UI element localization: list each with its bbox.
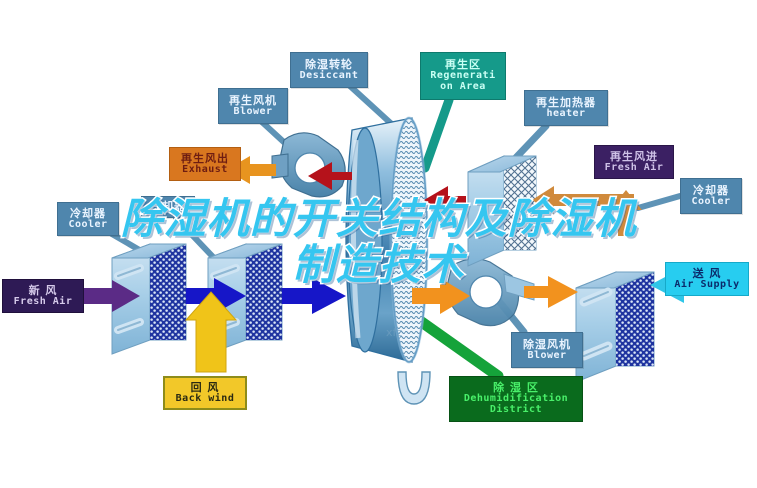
callout-air-supply-en: Air Supply xyxy=(666,280,748,291)
callout-regen-fresh-air-in: 再生风进Fresh Air xyxy=(594,145,674,179)
callout-back-wind-cn: 回 风 xyxy=(165,382,245,394)
callout-cooler-right: 冷却器Cooler xyxy=(680,178,742,214)
callout-desiccant-wheel: 除湿转轮Desiccant xyxy=(290,52,368,88)
callout-exhaust-cn: 再生风出 xyxy=(170,153,240,165)
callout-exhaust-en: Exhaust xyxy=(170,165,240,176)
callout-dehumid-blower: 除湿风机Blower xyxy=(511,332,583,368)
callout-fresh-air-in-cn: 新 风 xyxy=(3,285,83,297)
callout-regen-fresh-air-in-en: Fresh Air xyxy=(595,163,673,174)
callout-cooler-left-2-cn: 冷却器 xyxy=(142,201,194,213)
callout-regen-heater-en: heater xyxy=(525,109,607,120)
callout-fresh-air-in: 新 风Fresh Air xyxy=(2,279,84,313)
dry-air-arrow-2 xyxy=(524,276,578,308)
callout-cooler-left-1-cn: 冷却器 xyxy=(58,208,118,220)
callout-regen-heater: 再生加热器heater xyxy=(524,90,608,126)
callout-desiccant-wheel-en: Desiccant xyxy=(291,71,367,82)
callout-dehumid-blower-en: Blower xyxy=(512,351,582,362)
callout-regeneration-area: 再生区Regenerati on Area xyxy=(420,52,506,100)
callout-cooler-left-1-en: Cooler xyxy=(58,220,118,231)
callout-regen-blower: 再生风机Blower xyxy=(218,88,288,124)
callout-exhaust: 再生风出Exhaust xyxy=(169,147,241,181)
diagram-canvas: xfz xyxy=(0,0,757,488)
callout-cooler-right-en: Cooler xyxy=(681,197,741,208)
dehumidifier-schematic-artwork: xfz xyxy=(0,0,757,488)
callout-back-wind: 回 风Back wind xyxy=(163,376,247,410)
cooler-coil-3 xyxy=(576,272,654,382)
callout-air-supply-cn: 送 风 xyxy=(666,268,748,280)
condensate-tray xyxy=(398,372,430,404)
callout-regen-fresh-air-in-cn: 再生风进 xyxy=(595,151,673,163)
callout-air-supply: 送 风Air Supply xyxy=(665,262,749,296)
callout-cooler-left-2: 冷却器 xyxy=(141,196,195,218)
callout-dehumidification-district: 除 湿 区Dehumidification District xyxy=(449,376,583,422)
callout-back-wind-en: Back wind xyxy=(165,394,245,405)
callout-regen-heater-cn: 再生加热器 xyxy=(525,97,607,109)
regen-blower-housing xyxy=(272,133,345,197)
regen-heater-coil xyxy=(468,156,536,266)
regen-heat-arrow xyxy=(424,186,466,214)
callout-cooler-left-1: 冷却器Cooler xyxy=(57,202,119,236)
svg-text:xfz: xfz xyxy=(386,326,402,339)
callout-desiccant-wheel-cn: 除湿转轮 xyxy=(291,59,367,71)
callout-fresh-air-in-en: Fresh Air xyxy=(3,297,83,308)
callout-regeneration-area-en: Regenerati on Area xyxy=(421,71,505,93)
rotor-regeneration-sector xyxy=(394,124,421,200)
callout-cooler-right-cn: 冷却器 xyxy=(681,185,741,197)
callout-dehumid-blower-cn: 除湿风机 xyxy=(512,339,582,351)
callout-regen-blower-cn: 再生风机 xyxy=(219,95,287,107)
callout-dehumidification-district-en: Dehumidification District xyxy=(450,394,582,416)
callout-regen-blower-en: Blower xyxy=(219,107,287,118)
